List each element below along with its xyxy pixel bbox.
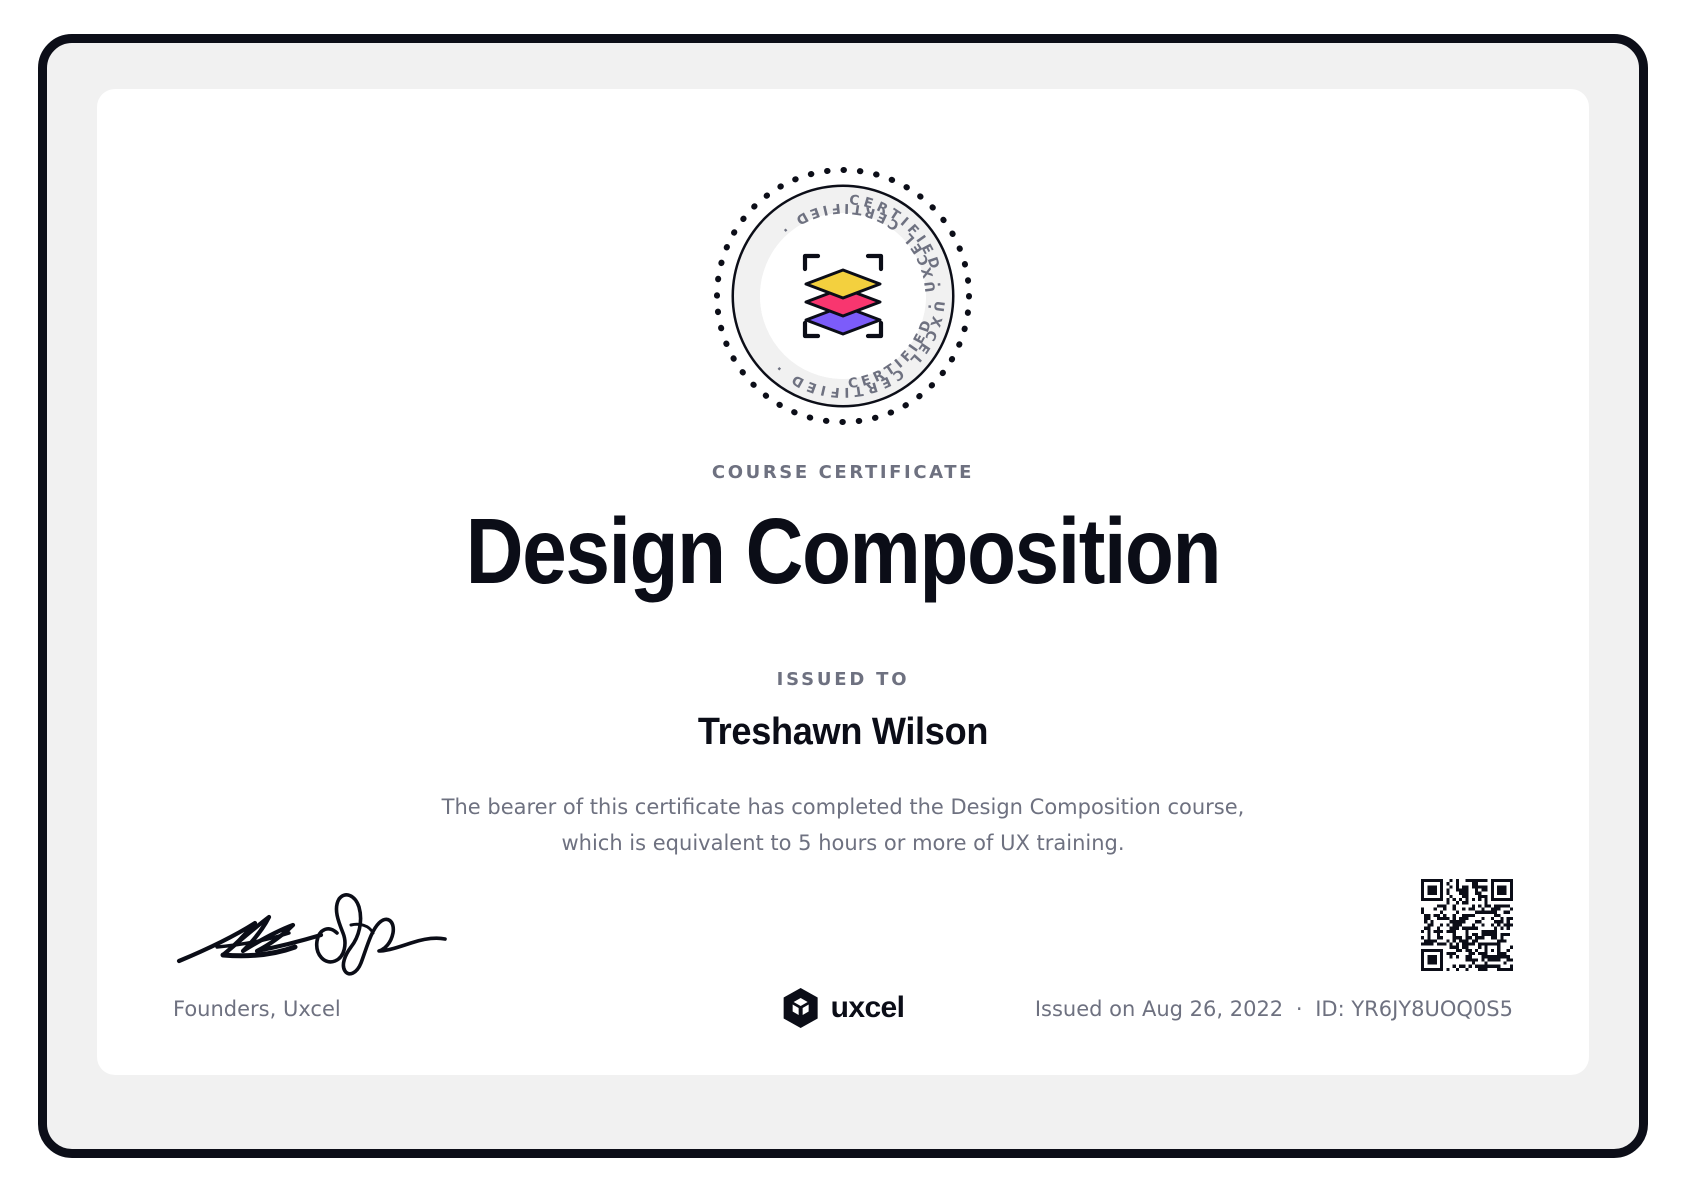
uxcel-logo-icon: [782, 987, 820, 1029]
course-certificate-kicker: COURSE CERTIFICATE: [97, 462, 1589, 483]
certificate-card: UXCEL CERTIFIED · UXCEL CERTIFIED · UXCE…: [97, 89, 1589, 1075]
qr-code-icon[interactable]: [1421, 879, 1513, 971]
signature-caption: Founders, Uxcel: [173, 997, 341, 1021]
page-title: Design Composition: [201, 499, 1484, 603]
uxcel-wordmark: uxcel: [831, 991, 905, 1025]
certificate-frame: UXCEL CERTIFIED · UXCEL CERTIFIED · UXCE…: [38, 34, 1648, 1158]
recipient-name: Treshawn Wilson: [134, 707, 1551, 757]
signature-icon: [173, 889, 473, 984]
issued-on-text: Issued on Aug 26, 2022: [1035, 997, 1283, 1021]
separator-dot: ·: [1290, 997, 1309, 1021]
uxcel-certified-seal: UXCEL CERTIFIED · UXCEL CERTIFIED · UXCE…: [708, 161, 978, 431]
description-line-2: which is equivalent to 5 hours or more o…: [393, 825, 1293, 861]
uxcel-brand: uxcel: [782, 987, 905, 1029]
certificate-description: The bearer of this certificate has compl…: [393, 789, 1293, 861]
verification-qr-code[interactable]: [1421, 879, 1513, 971]
description-line-1: The bearer of this certificate has compl…: [393, 789, 1293, 825]
issued-to-label: ISSUED TO: [97, 669, 1589, 690]
issue-details: Issued on Aug 26, 2022 · ID: YR6JY8UOQ0S…: [1035, 997, 1513, 1021]
certificate-id-text: ID: YR6JY8UOQ0S5: [1315, 997, 1513, 1021]
seal-icon: UXCEL CERTIFIED · UXCEL CERTIFIED · UXCE…: [708, 161, 978, 431]
signatures: [173, 889, 473, 989]
layers-icon: [806, 270, 880, 334]
